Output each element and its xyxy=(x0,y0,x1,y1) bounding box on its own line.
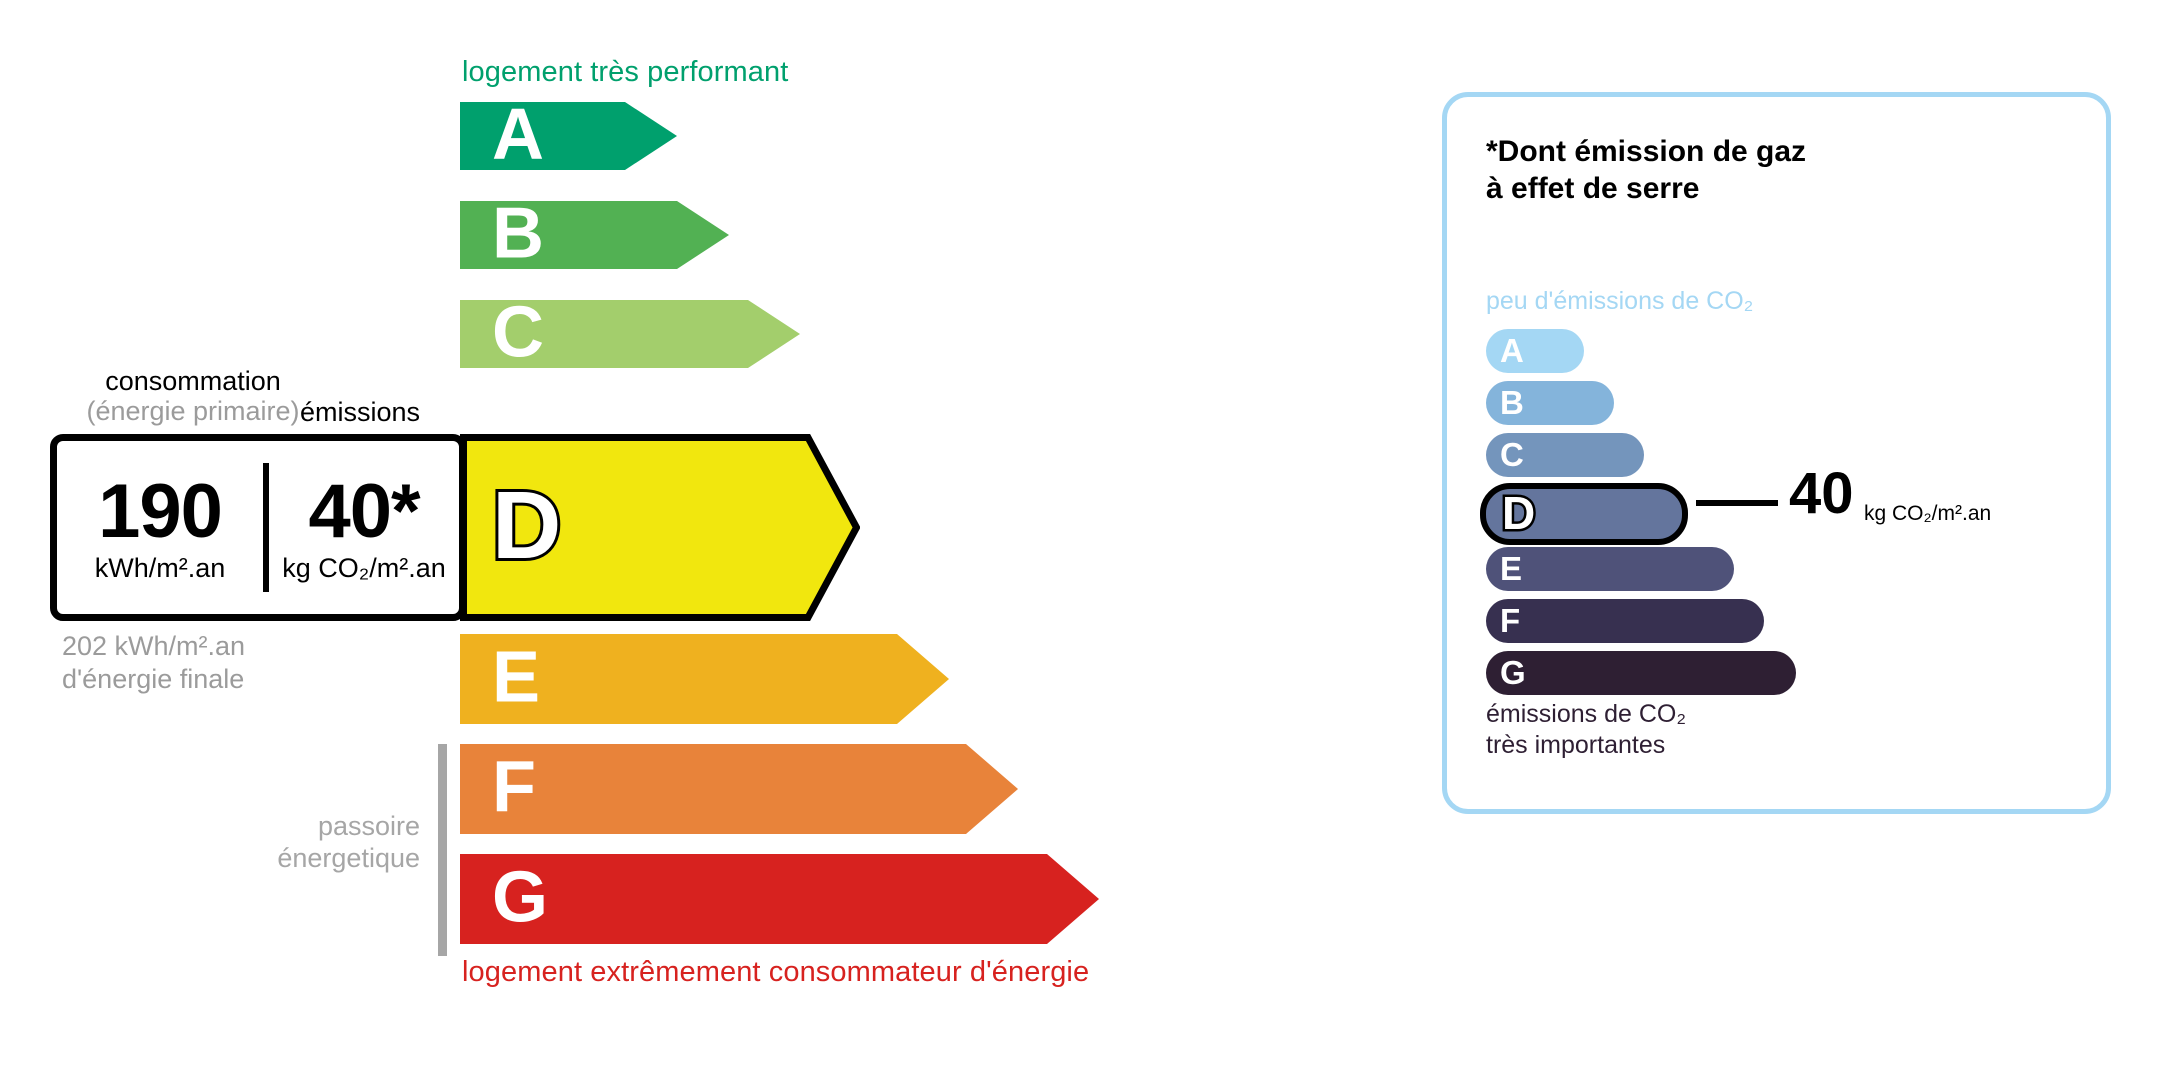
emissions-unit: kg CO₂/m².an xyxy=(282,554,446,584)
co2-bar-a: A xyxy=(1486,329,1584,373)
consumption-value: 190 xyxy=(98,476,222,548)
class-letter-g: G xyxy=(492,862,548,934)
co2-top-caption: peu d'émissions de CO₂ xyxy=(1486,287,1753,316)
energy-performance-ladder: logement très performant ABCDEFG consomm… xyxy=(0,0,1330,1079)
co2-letter-b: B xyxy=(1500,386,1524,419)
co2-title-line1: *Dont émission de gaz xyxy=(1486,134,1806,171)
co2-letter-a: A xyxy=(1500,334,1524,367)
co2-bar-e: E xyxy=(1486,547,1734,591)
co2-letter-d: D xyxy=(1502,490,1535,536)
co2-letter-g: G xyxy=(1500,656,1526,689)
energy-class-f: F xyxy=(460,744,1018,834)
energy-class-a: A xyxy=(460,102,677,170)
ladder-top-caption: logement très performant xyxy=(462,56,788,89)
co2-class-f: F xyxy=(1486,599,1764,643)
arrow-body-b: B xyxy=(460,201,729,269)
co2-letter-e: E xyxy=(1500,552,1522,585)
arrow-body-d: D xyxy=(460,434,860,621)
consumption-label-sub: (énergie primaire) xyxy=(68,396,318,426)
co2-value-unit: kg CO₂/m².an xyxy=(1864,502,1991,526)
final-energy-line1: 202 kWh/m².an xyxy=(62,630,245,663)
co2-letter-f: F xyxy=(1500,604,1520,637)
energy-class-d: D xyxy=(460,434,860,621)
consumption-label: consommation (énergie primaire) xyxy=(68,366,318,426)
co2-bar-c: C xyxy=(1486,433,1644,477)
energy-class-e: E xyxy=(460,634,949,724)
co2-class-c: C xyxy=(1486,433,1644,477)
passoire-label: passoire énergetique xyxy=(180,810,420,875)
class-letter-c: C xyxy=(492,297,544,369)
final-energy-note: 202 kWh/m².an d'énergie finale xyxy=(62,630,245,696)
class-letter-d: D xyxy=(492,478,561,574)
co2-value: 40 xyxy=(1789,465,1854,523)
arrow-body-f: F xyxy=(460,744,1018,834)
value-box: 190 kWh/m².an 40* kg CO₂/m².an xyxy=(50,434,466,621)
co2-bottom-caption: émissions de CO₂ très importantes xyxy=(1486,699,1686,760)
arrow-body-g: G xyxy=(460,854,1099,944)
arrow-shape xyxy=(460,744,1018,834)
co2-bar-f: F xyxy=(1486,599,1764,643)
co2-panel: *Dont émission de gaz à effet de serre p… xyxy=(1442,92,2111,814)
arrow-body-a: A xyxy=(460,102,677,170)
co2-class-e: E xyxy=(1486,547,1734,591)
co2-title-line2: à effet de serre xyxy=(1486,171,1806,208)
co2-class-d: D xyxy=(1480,483,1688,545)
class-letter-e: E xyxy=(492,642,540,714)
emissions-value: 40* xyxy=(308,476,419,548)
co2-bar-d: D xyxy=(1480,483,1688,545)
co2-class-g: G xyxy=(1486,651,1796,695)
co2-bottom-line2: très importantes xyxy=(1486,730,1686,761)
energy-class-g: G xyxy=(460,854,1099,944)
passoire-line2: énergetique xyxy=(180,842,420,874)
ladder-bottom-caption: logement extrêmement consommateur d'éner… xyxy=(462,956,1089,989)
arrow-body-e: E xyxy=(460,634,949,724)
arrow-body-c: C xyxy=(460,300,800,368)
consumption-value-cell: 190 kWh/m².an xyxy=(57,441,263,614)
co2-leader-line xyxy=(1696,500,1778,506)
co2-bottom-line1: émissions de CO₂ xyxy=(1486,699,1686,730)
co2-bar-g: G xyxy=(1486,651,1796,695)
class-letter-f: F xyxy=(492,752,536,824)
class-letter-b: B xyxy=(492,198,544,270)
emissions-value-cell: 40* kg CO₂/m².an xyxy=(269,441,459,614)
co2-class-b: B xyxy=(1486,381,1614,425)
co2-bar-b: B xyxy=(1486,381,1614,425)
co2-panel-title: *Dont émission de gaz à effet de serre xyxy=(1486,134,1806,207)
consumption-label-main: consommation xyxy=(68,366,318,396)
co2-class-a: A xyxy=(1486,329,1584,373)
arrow-shape xyxy=(460,854,1099,944)
consumption-unit: kWh/m².an xyxy=(95,554,226,584)
energy-class-c: C xyxy=(460,300,800,368)
emissions-label: émissions xyxy=(300,397,420,428)
final-energy-line2: d'énergie finale xyxy=(62,663,245,696)
co2-letter-c: C xyxy=(1500,438,1524,471)
class-letter-a: A xyxy=(492,99,544,171)
passoire-line1: passoire xyxy=(180,810,420,842)
passoire-indicator-bar xyxy=(438,744,447,956)
energy-class-b: B xyxy=(460,201,729,269)
